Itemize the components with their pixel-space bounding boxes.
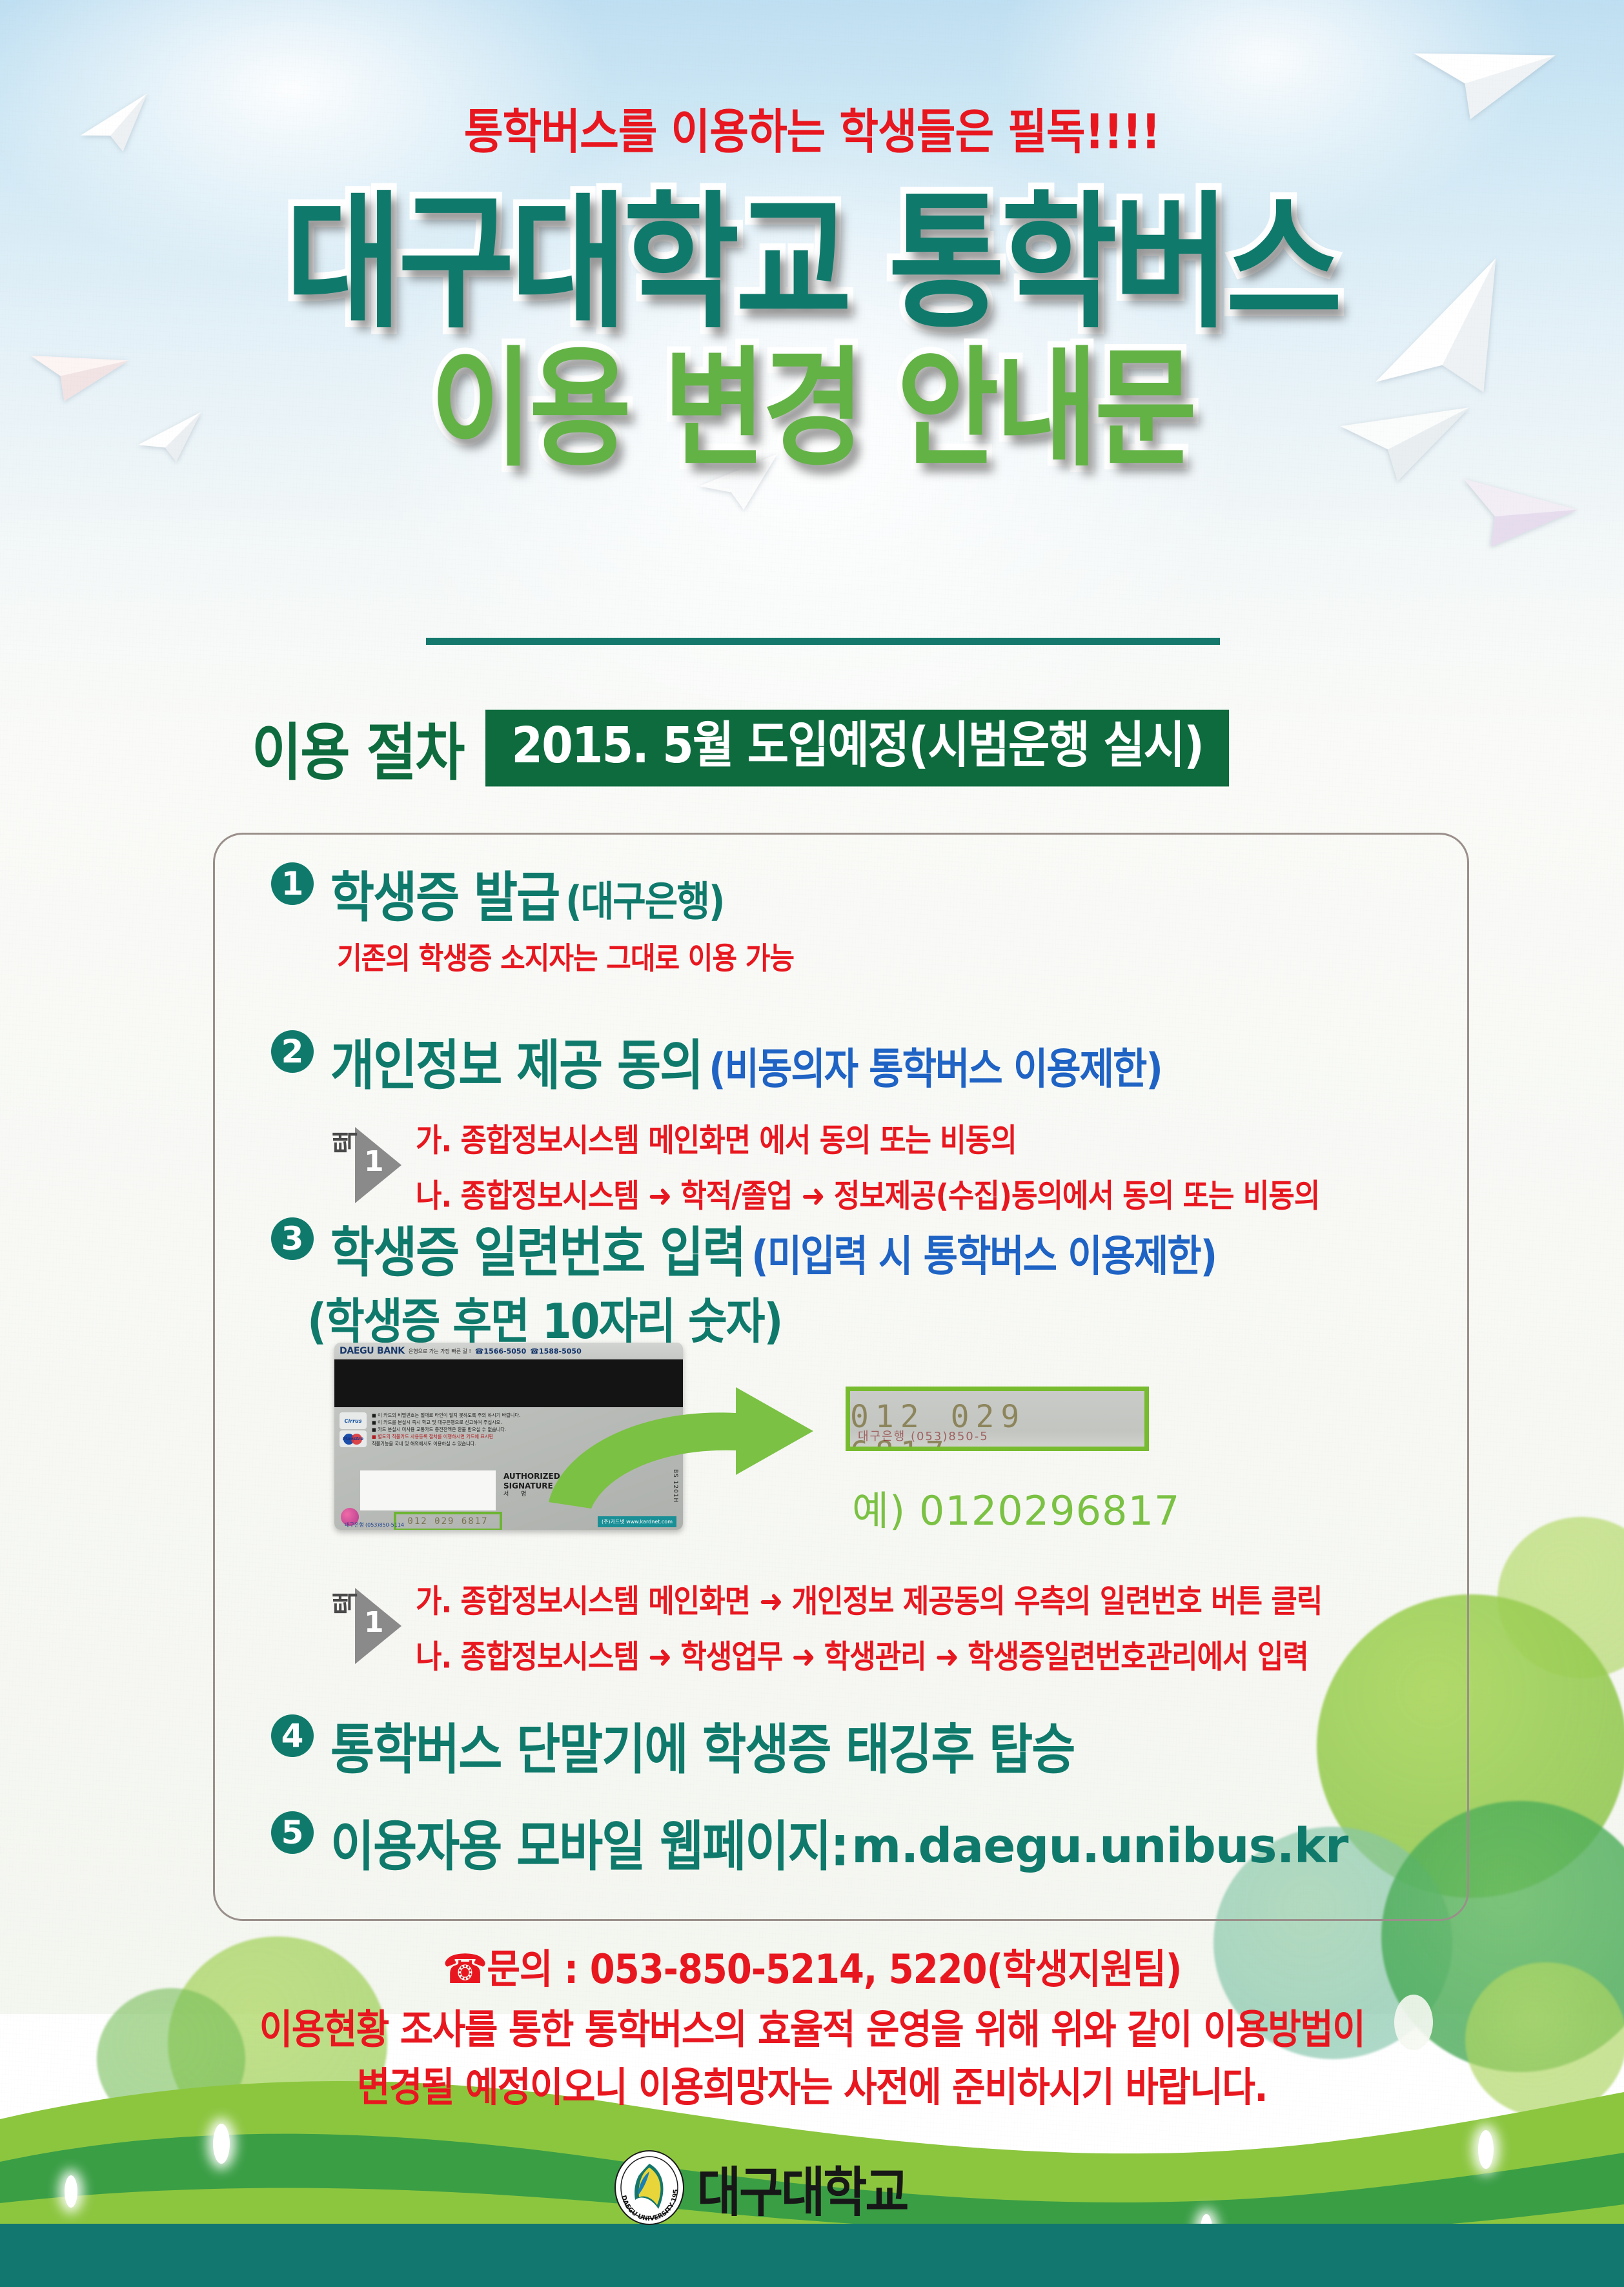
step-2: 2 개인정보 제공 동의(비동의자 통학버스 이용제한)	[271, 1026, 1162, 1095]
serial-zoom-callout: 012 029 6817 대구은행 (053)850-5	[846, 1387, 1149, 1451]
step-3: 3 학생증 일련번호 입력(미입력 시 통학버스 이용제한) (학생증 후면 1…	[271, 1214, 1216, 1348]
step-2-paren: (비동의자 통학버스 이용제한)	[709, 1034, 1162, 1096]
maestro-logo-icon: Maestro	[340, 1430, 367, 1447]
step-3-option-a: 가. 종합정보시스템 메인화면 ➜ 개인정보 제공동의 우측의 일련번호 버튼 …	[416, 1575, 1322, 1621]
university-seal-icon: DAEGU UNIVERSITY 1956	[613, 2150, 685, 2226]
notice-line-1: 이용현황 조사를 통한 통학버스의 효율적 운영을 위해 위와 같이 이용방법이	[0, 2001, 1624, 2058]
card-footer-text: 대구은행 (053)850-5114	[345, 1521, 404, 1529]
card-signature-box	[360, 1470, 496, 1510]
poster-root: 통학버스를 이용하는 학생들은 필독!!!! 대구대학교 통학버스 이용 변경 …	[0, 0, 1624, 2287]
bottom-teal-strip	[0, 2224, 1624, 2287]
section-label: 이용 절차	[252, 704, 463, 793]
notice-block: 이용현황 조사를 통한 통학버스의 효율적 운영을 위해 위와 같이 이용방법이…	[0, 2001, 1624, 2116]
sparkle-decoration	[1478, 2130, 1494, 2169]
title-line-2: 이용 변경 안내문	[0, 345, 1624, 474]
cirrus-label: Cirrus	[345, 1418, 362, 1424]
maestro-label: Maestro	[343, 1436, 363, 1441]
step-number-badge: 3	[271, 1217, 314, 1260]
step-3-pick-one-group: 택 1 가. 종합정보시스템 메인화면 ➜ 개인정보 제공동의 우측의 일련번호…	[333, 1578, 1322, 1674]
sparkle-decoration	[65, 2175, 77, 2208]
cirrus-logo-icon: Cirrus	[340, 1412, 367, 1429]
step-2-title: 개인정보 제공 동의	[330, 1022, 702, 1101]
section-banner: 2015. 5월 도입예정(시범운행 실시)	[485, 709, 1229, 786]
card-serial-highlight: 012 029 6817	[394, 1512, 502, 1530]
pick-count: 1	[364, 1606, 384, 1639]
step-5-title: 이용자용 모바일 웹페이지:	[330, 1803, 848, 1882]
step-5-url[interactable]: m.daegu.unibus.kr	[851, 1818, 1348, 1874]
green-curved-arrow-icon	[542, 1352, 865, 1523]
pick-one-arrow-icon: 택 1	[333, 1588, 405, 1664]
step-2-pick-one-group: 택 1 가. 종합정보시스템 메인화면 에서 동의 또는 비동의 나. 종합정보…	[333, 1117, 1319, 1214]
university-logo: DAEGU UNIVERSITY 1956 대구대학교	[613, 2150, 907, 2226]
step-3-title: 학생증 일련번호 입력	[330, 1209, 745, 1288]
step-number-badge: 1	[271, 862, 314, 905]
step-3-option-b: 나. 종합정보시스템 ➜ 학생업무 ➜ 학생관리 ➜ 학생증일련번호관리에서 입…	[416, 1631, 1322, 1677]
title-line-1: 대구대학교 통학버스	[0, 190, 1624, 336]
pick-one-arrow-icon: 택 1	[333, 1127, 405, 1203]
step-number-badge: 5	[271, 1811, 314, 1854]
contact-line: ☎문의 : 053-850-5214, 5220(학생지원팀)	[0, 1936, 1624, 1995]
pick-count: 1	[364, 1145, 384, 1178]
university-name: 대구대학교	[697, 2149, 907, 2226]
step-number-badge: 4	[271, 1714, 314, 1757]
kicker-text: 통학버스를 이용하는 학생들은 필독!!!!	[0, 93, 1624, 163]
step-4-title: 통학버스 단말기에 학생증 태깅후 탑승	[330, 1706, 1074, 1785]
section-header: 이용 절차 2015. 5월 도입예정(시범운행 실시)	[252, 709, 1229, 787]
step-1-subnote: 기존의 학생증 소지자는 그대로 이용 가능	[337, 934, 794, 978]
sparkle-decoration	[213, 2124, 230, 2164]
card-serial-number: 012 029 6817	[407, 1516, 488, 1527]
step-5: 5 이용자용 모바일 웹페이지: m.daegu.unibus.kr	[271, 1807, 1348, 1876]
step-number-badge: 2	[271, 1030, 314, 1073]
notice-line-2: 변경될 예정이오니 이용희망자는 사전에 준비하시기 바랍니다.	[0, 2059, 1624, 2117]
step-3-paren: (미입력 시 통학버스 이용제한)	[751, 1221, 1216, 1283]
poster-title: 대구대학교 통학버스 이용 변경 안내문	[0, 200, 1624, 465]
title-divider	[426, 638, 1220, 645]
step-1-title: 학생증 발급	[330, 854, 559, 933]
step-1-paren: (대구은행)	[565, 868, 724, 928]
card-slogan: 은행으로 가는 가장 빠른 길 !	[409, 1348, 471, 1355]
step-2-option-a: 가. 종합정보시스템 메인화면 에서 동의 또는 비동의	[416, 1114, 1319, 1161]
serial-example-label: 예) 0120296817	[852, 1478, 1180, 1536]
card-bank-name: DAEGU BANK	[340, 1346, 405, 1356]
step-4: 4 통학버스 단말기에 학생증 태깅후 탑승	[271, 1711, 1074, 1780]
zoom-under-text: 대구은행 (053)850-5	[858, 1427, 989, 1444]
pick-label: 택	[333, 1557, 359, 1615]
pick-label: 택	[333, 1096, 359, 1154]
card-tel-1: ☎1566-5050	[475, 1347, 527, 1356]
step-1: 1 학생증 발급(대구은행) 기존의 학생증 소지자는 그대로 이용 가능	[271, 859, 794, 976]
